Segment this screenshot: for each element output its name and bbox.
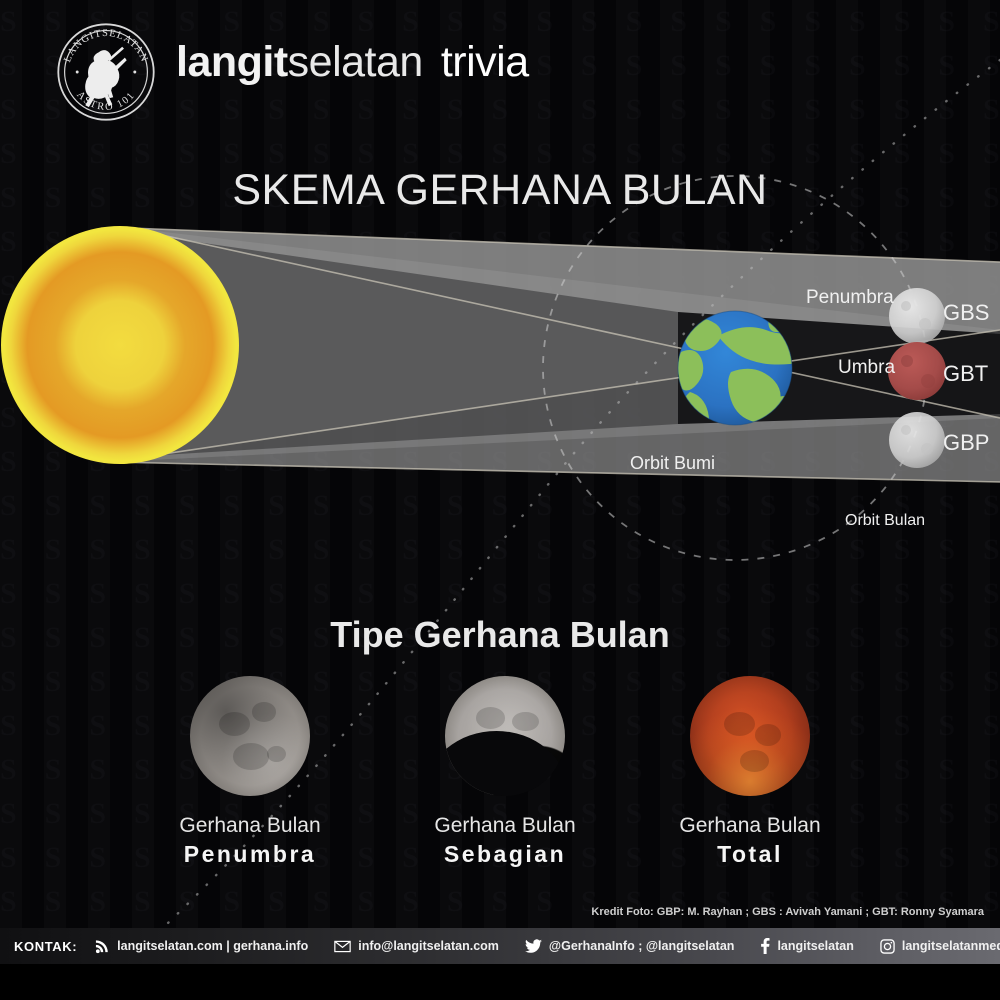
brand-title: langitselatantrivia bbox=[176, 38, 529, 87]
photo-credit: Kredit Foto: GBP: M. Rayhan ; GBS : Aviv… bbox=[591, 906, 984, 918]
footer-bottom-bar bbox=[0, 964, 1000, 1000]
type-line1: Gerhana Bulan bbox=[679, 814, 820, 837]
footer-item-email[interactable]: info@langitselatan.com bbox=[334, 939, 499, 953]
langitselatan-logo: LANGITSELATAN ASTRO 101 bbox=[52, 18, 160, 126]
instagram-icon bbox=[880, 939, 895, 954]
label-penumbra: Penumbra bbox=[806, 287, 894, 309]
label-gbs: GBS bbox=[943, 300, 989, 326]
footer-twitter-text: @GerhanaInfo ; @langitselatan bbox=[549, 939, 735, 953]
footer-contact-bar: KONTAK: langitselatan.com | gerhana.info… bbox=[0, 928, 1000, 964]
footer-email-text: info@langitselatan.com bbox=[358, 939, 499, 953]
brand-selatan: selatan bbox=[288, 38, 423, 86]
partial-eclipse-moon-photo bbox=[445, 676, 565, 796]
infographic-canvas: SSSSSSSSSSSSSSSSSSSSSSSSSS SSSSSSSSSSSSS… bbox=[0, 0, 1000, 1000]
type-line2: Penumbra bbox=[120, 841, 380, 868]
envelope-icon bbox=[334, 940, 351, 953]
type-caption: Gerhana Bulan Sebagian bbox=[375, 814, 635, 868]
brand-trivia: trivia bbox=[441, 38, 529, 86]
type-caption: Gerhana Bulan Total bbox=[620, 814, 880, 868]
twitter-icon bbox=[525, 939, 542, 953]
header: LANGITSELATAN ASTRO 101 langitselatantri… bbox=[0, 0, 1000, 150]
footer-item-twitter[interactable]: @GerhanaInfo ; @langitselatan bbox=[525, 939, 735, 953]
footer-facebook-text: langitselatan bbox=[777, 939, 853, 953]
footer-item-instagram[interactable]: langitselatanmedia bbox=[880, 939, 1000, 954]
moon-gbt bbox=[888, 342, 946, 400]
footer-instagram-text: langitselatanmedia bbox=[902, 939, 1000, 953]
moon-gbp bbox=[889, 412, 945, 468]
label-gbt: GBT bbox=[943, 361, 988, 387]
sun bbox=[1, 226, 239, 464]
rss-icon bbox=[95, 939, 110, 954]
type-line2: Total bbox=[620, 841, 880, 868]
type-line1: Gerhana Bulan bbox=[434, 814, 575, 837]
type-line1: Gerhana Bulan bbox=[179, 814, 320, 837]
footer-website-text: langitselatan.com | gerhana.info bbox=[117, 939, 308, 953]
page-title: SKEMA GERHANA BULAN bbox=[0, 166, 1000, 215]
total-eclipse-moon-photo bbox=[690, 676, 810, 796]
section-title: Tipe Gerhana Bulan bbox=[0, 614, 1000, 656]
eclipse-type-sebagian: Gerhana Bulan Sebagian bbox=[375, 676, 635, 868]
facebook-icon bbox=[760, 938, 770, 954]
brand-langit: langit bbox=[176, 38, 288, 86]
eclipse-type-total: Gerhana Bulan Total bbox=[620, 676, 880, 868]
label-gbp: GBP bbox=[943, 430, 989, 456]
penumbral-moon-photo bbox=[190, 676, 310, 796]
label-orbit-bulan: Orbit Bulan bbox=[845, 512, 925, 530]
kontak-label: KONTAK: bbox=[14, 939, 77, 954]
eclipse-types: Gerhana Bulan Penumbra Gerhana Bulan Seb… bbox=[0, 676, 1000, 876]
label-umbra: Umbra bbox=[838, 357, 895, 379]
type-line2: Sebagian bbox=[375, 841, 635, 868]
eclipse-type-penumbra: Gerhana Bulan Penumbra bbox=[120, 676, 380, 868]
footer-item-facebook[interactable]: langitselatan bbox=[760, 938, 853, 954]
label-orbit-bumi: Orbit Bumi bbox=[630, 453, 715, 474]
type-caption: Gerhana Bulan Penumbra bbox=[120, 814, 380, 868]
footer-item-website[interactable]: langitselatan.com | gerhana.info bbox=[95, 939, 308, 954]
